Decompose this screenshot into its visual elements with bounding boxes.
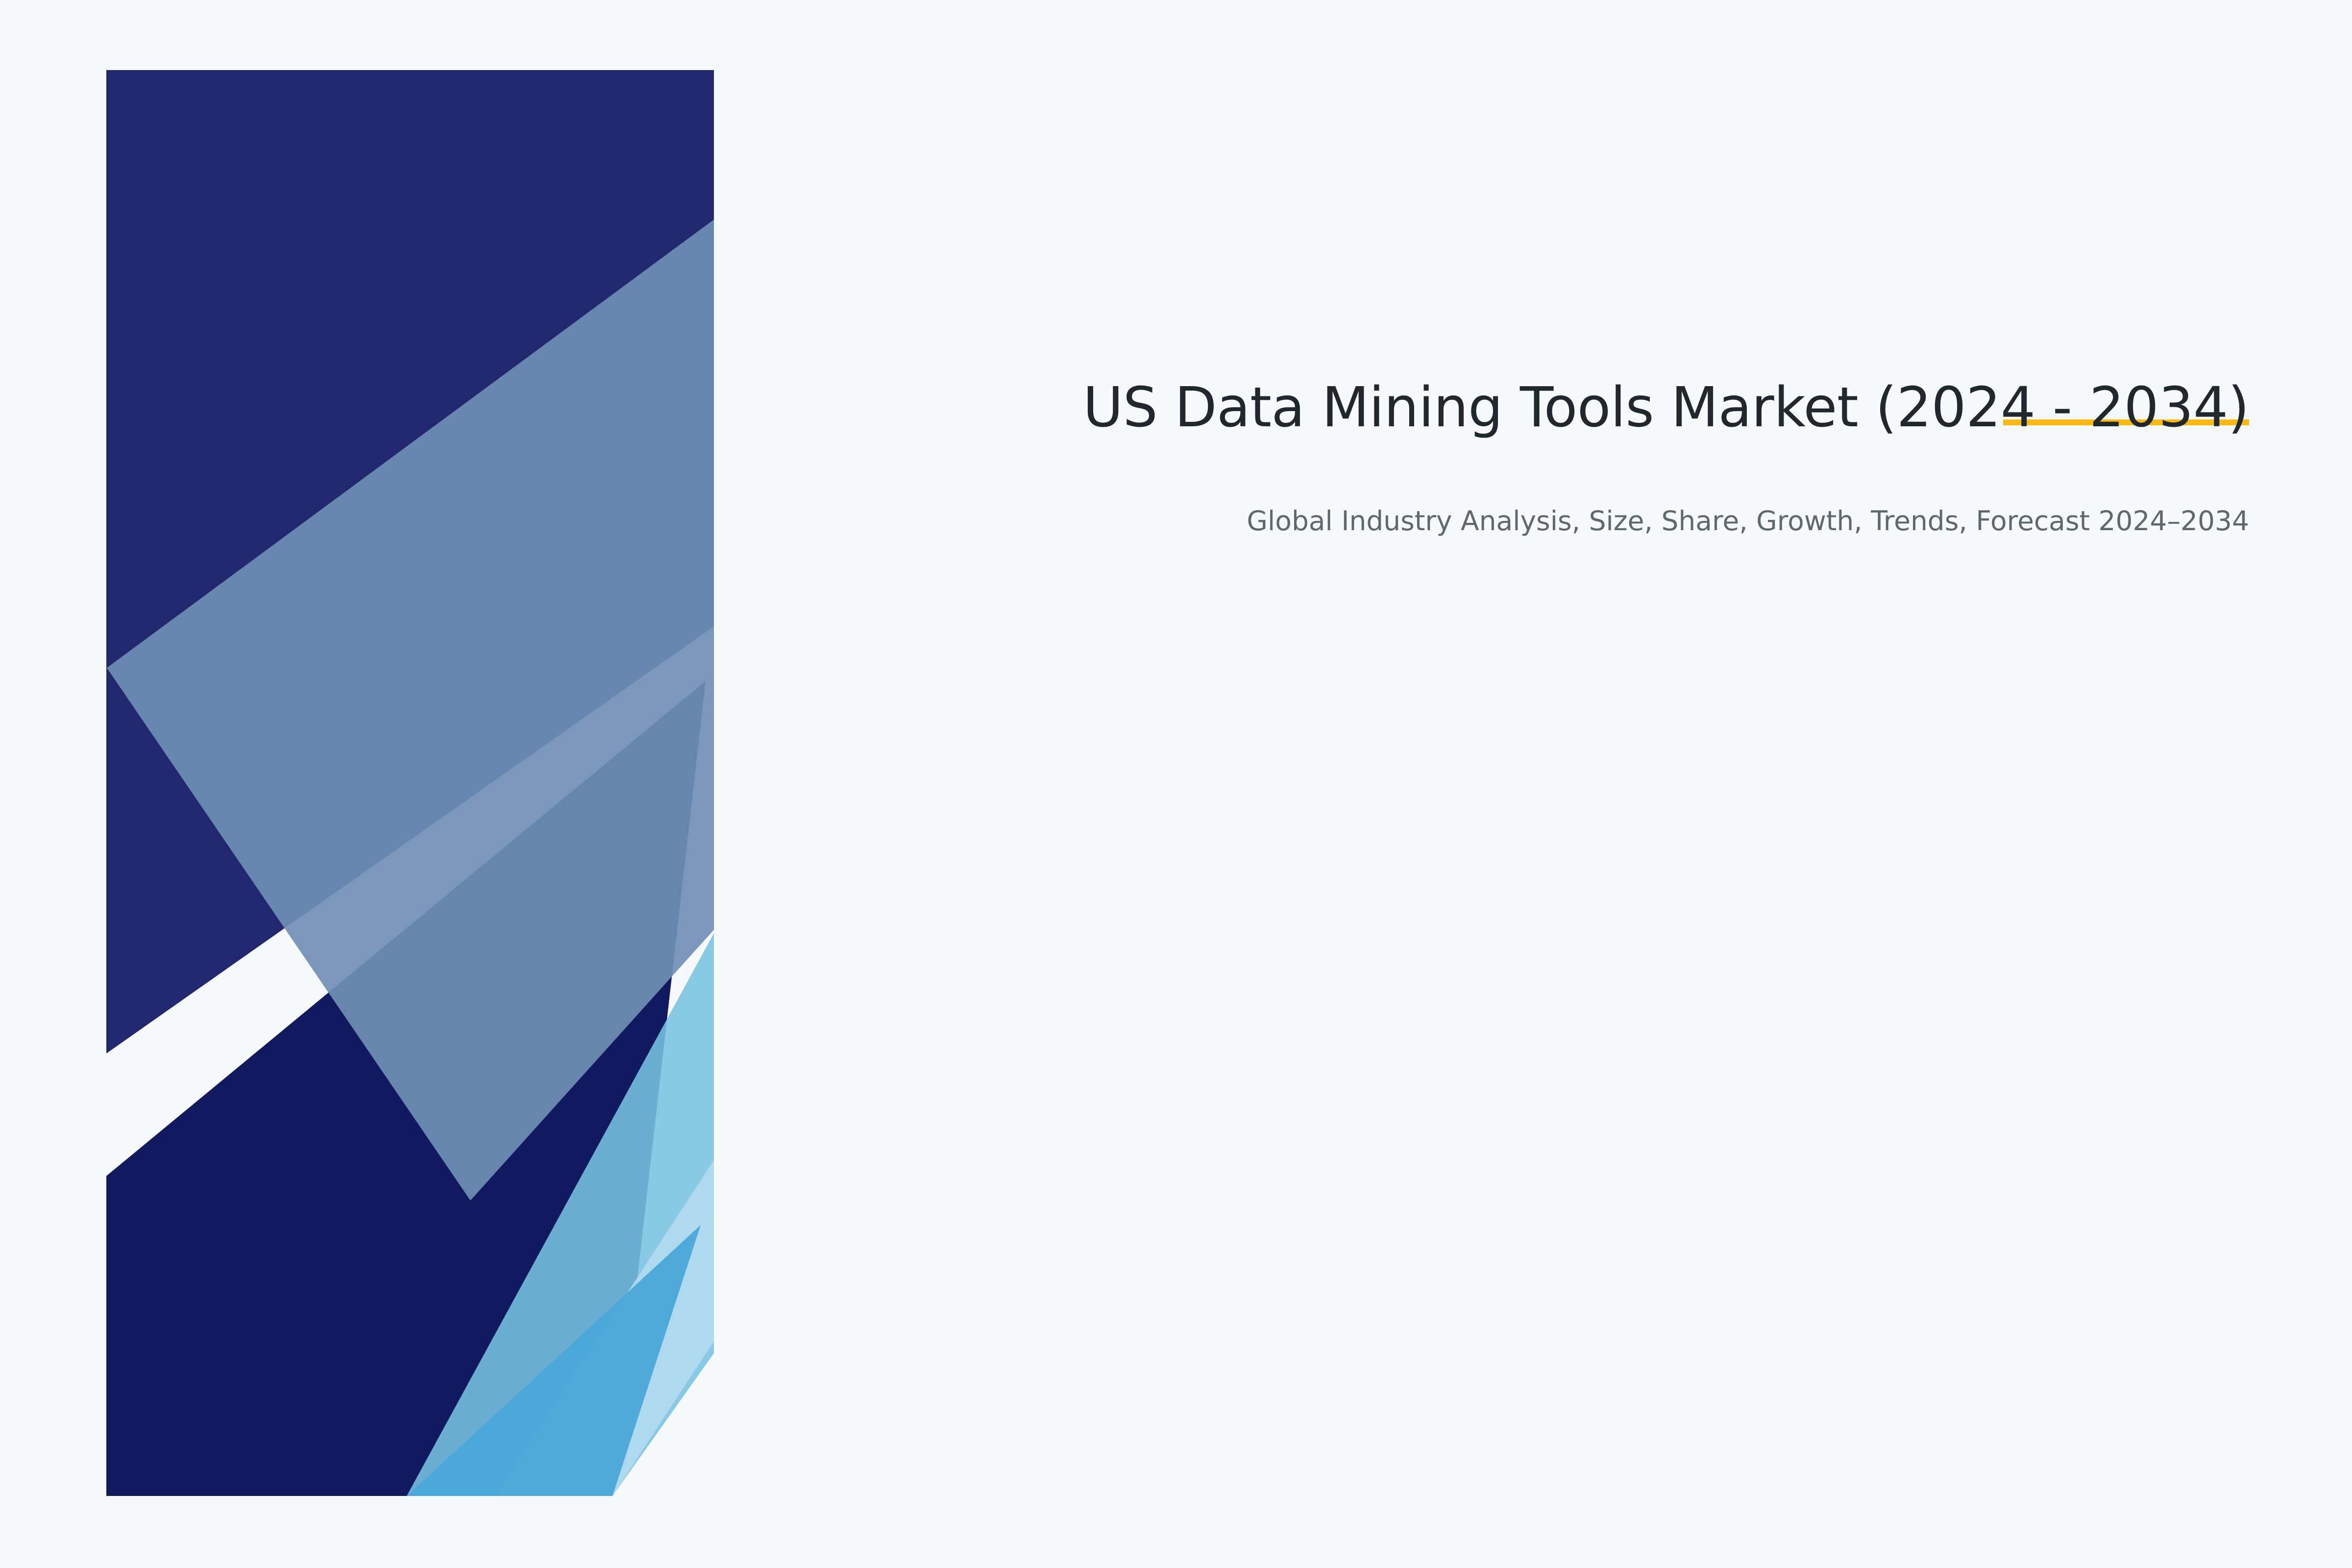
artwork-shape-group xyxy=(106,70,1505,1496)
title-wrapper: US Data Mining Tools Market (2024 - 2034… xyxy=(862,372,2249,444)
abstract-geometric-artwork xyxy=(0,0,2352,1568)
page-subtitle: Global Industry Analysis, Size, Share, G… xyxy=(862,444,2249,539)
cover-text-block: US Data Mining Tools Market (2024 - 2034… xyxy=(862,372,2249,539)
page-title: US Data Mining Tools Market (2024 - 2034… xyxy=(862,372,2249,444)
report-cover-page: US Data Mining Tools Market (2024 - 2034… xyxy=(0,0,2352,1568)
